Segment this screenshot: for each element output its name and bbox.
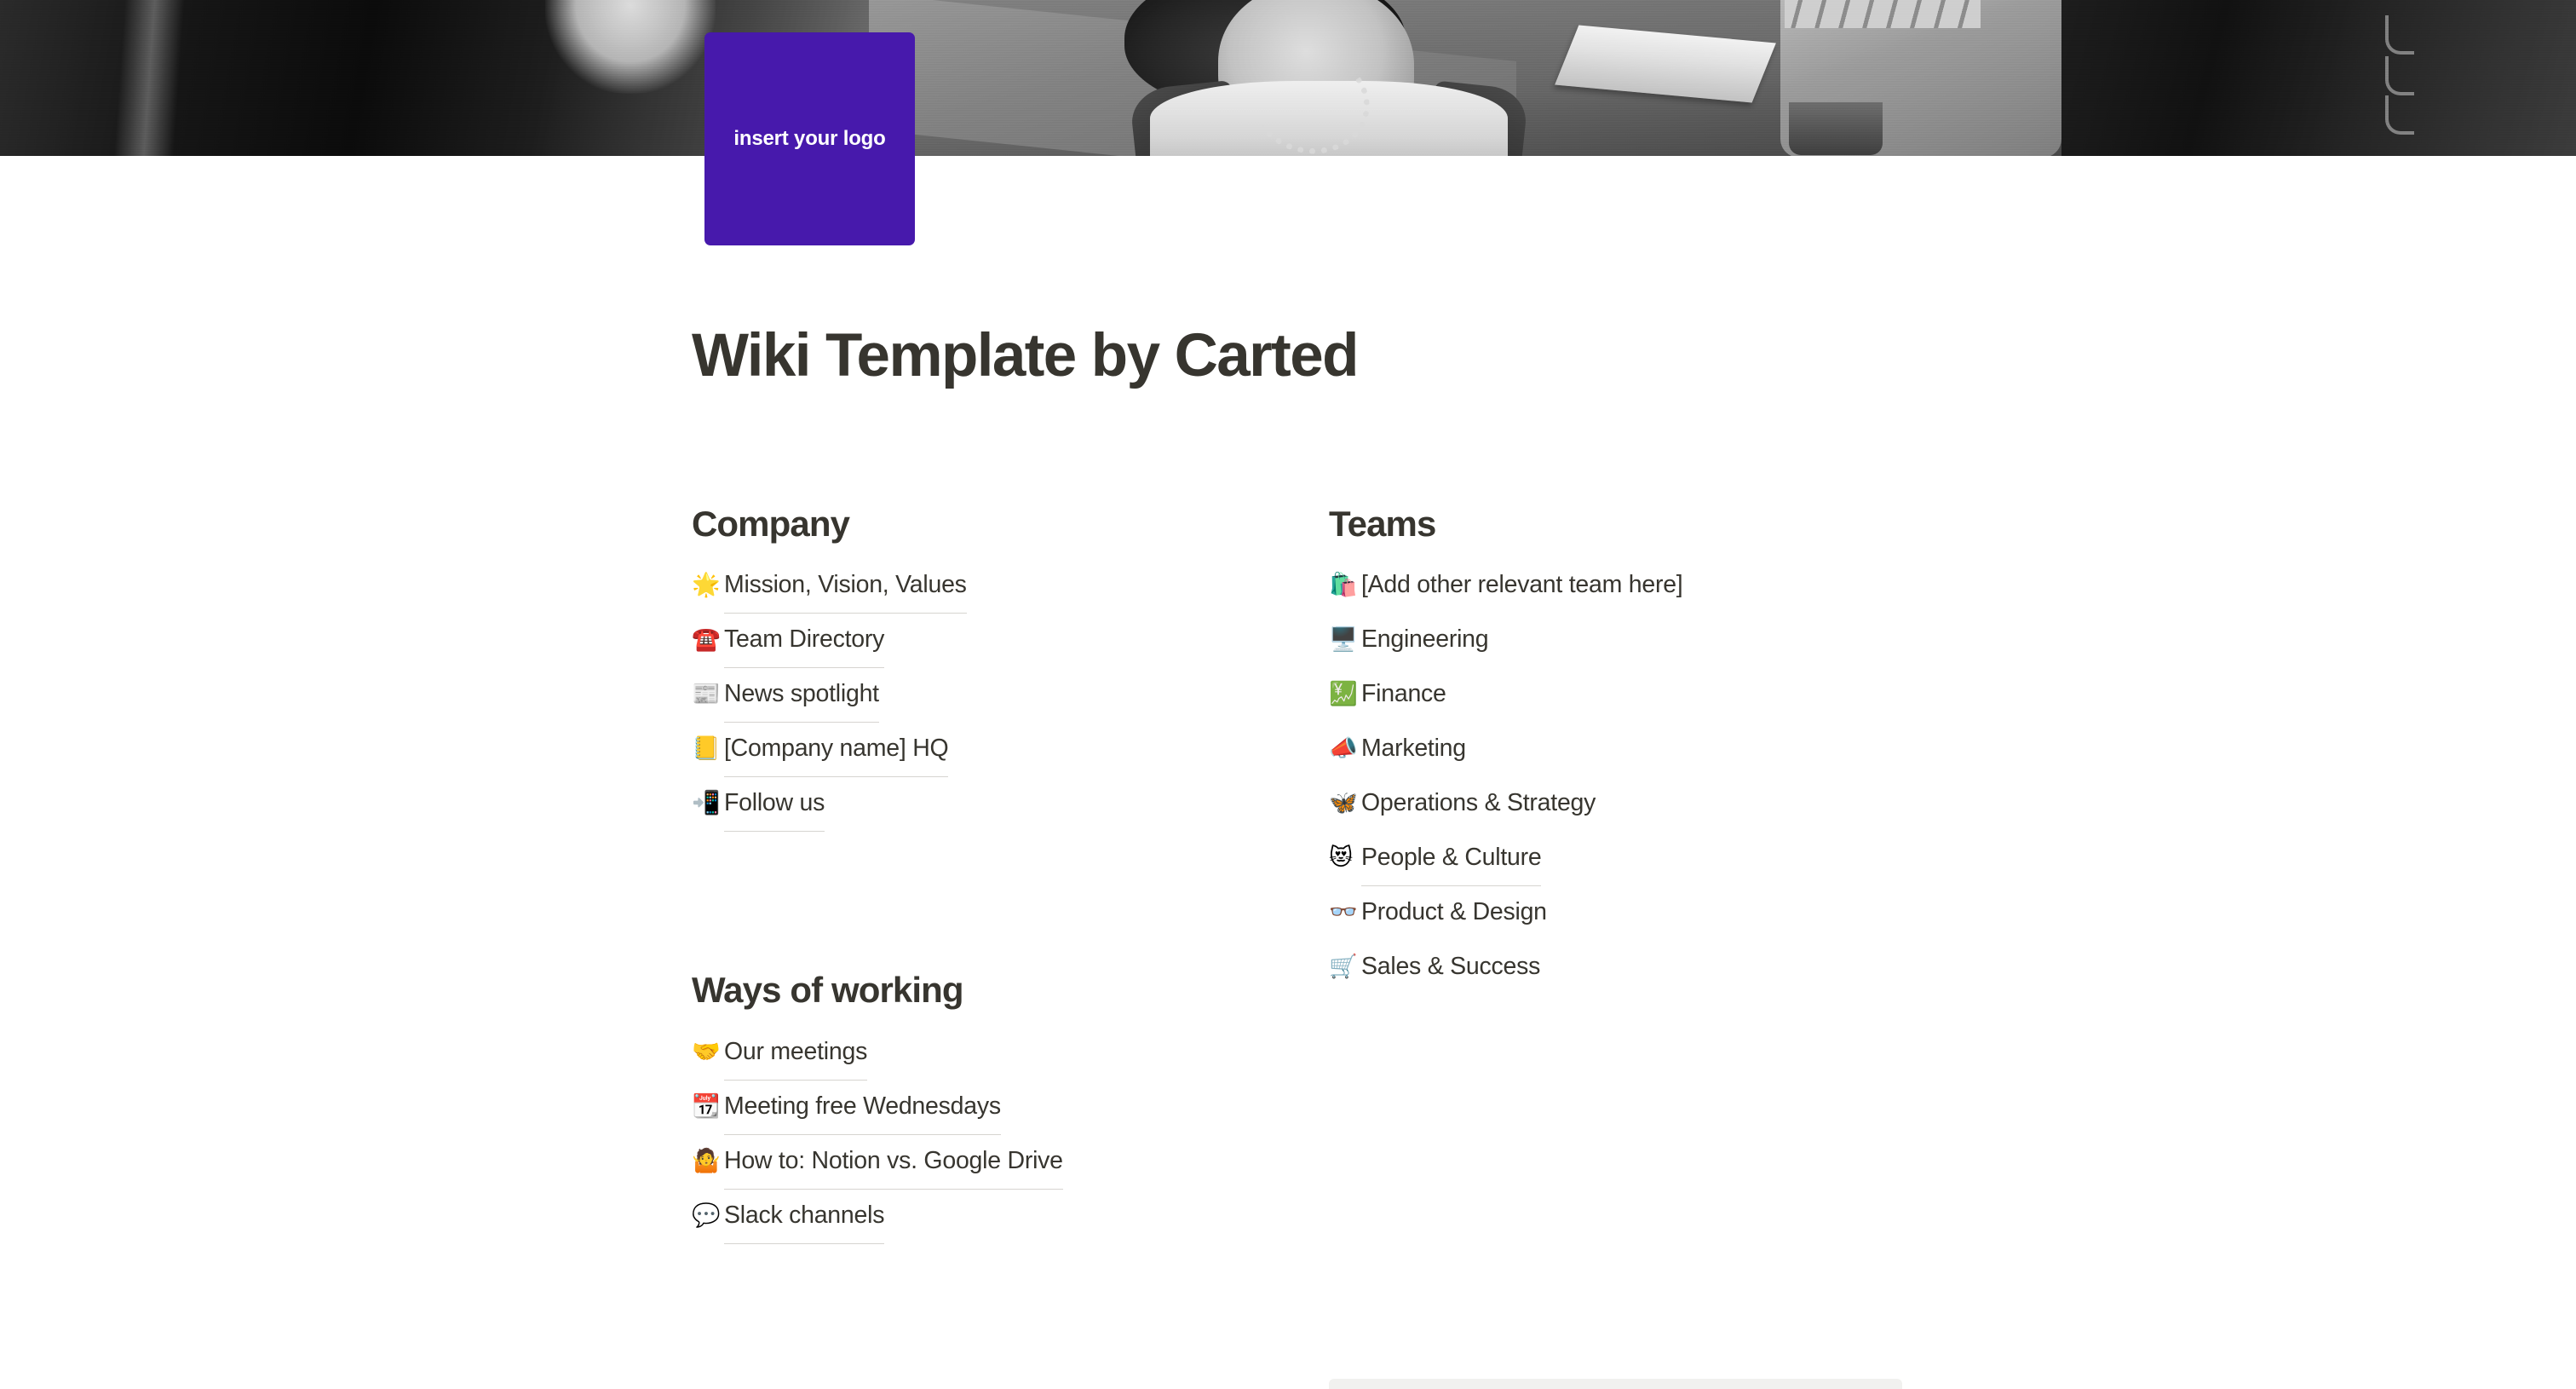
team-marketing[interactable]: Marketing	[1361, 721, 1466, 775]
teams-link-list: 🛍️ [Add other relevant team here] 🖥️ Eng…	[1329, 557, 1901, 994]
ledger-icon: 📒	[692, 722, 724, 776]
newspaper-icon: 📰	[692, 667, 724, 722]
list-item[interactable]: 🖥️ Engineering	[1329, 612, 1901, 666]
wiki-page: insert your logo Wiki Template by Carted…	[0, 0, 2576, 1389]
link-slack-channels[interactable]: Slack channels	[724, 1188, 884, 1244]
list-item[interactable]: 💬 Slack channels	[692, 1188, 1254, 1242]
team-finance[interactable]: Finance	[1361, 666, 1446, 721]
telephone-icon: ☎️	[692, 613, 724, 667]
list-item[interactable]: 🌟 Mission, Vision, Values	[692, 557, 1254, 612]
list-item[interactable]: 💹 Finance	[1329, 666, 1901, 721]
section-heading-company: Company	[692, 503, 1254, 545]
desktop-computer-icon: 🖥️	[1329, 613, 1361, 667]
shopping-cart-icon: 🛒	[1329, 940, 1361, 994]
link-company-name-hq[interactable]: [Company name] HQ	[724, 721, 948, 777]
ways-of-working-link-list: 🤝 Our meetings 📆 Meeting free Wednesdays…	[692, 1024, 1254, 1242]
list-item[interactable]: 🛍️ [Add other relevant team here]	[1329, 557, 1901, 612]
company-link-list: 🌟 Mission, Vision, Values ☎️ Team Direct…	[692, 557, 1254, 830]
smiling-cat-with-heart-eyes-icon: 😻	[1329, 831, 1361, 885]
cover-photo-illustration	[0, 0, 2576, 156]
section-heading-ways-of-working: Ways of working	[692, 969, 1254, 1011]
right-column: Teams 🛍️ [Add other relevant team here] …	[1329, 503, 1901, 994]
tear-off-calendar-icon: 📆	[692, 1080, 724, 1134]
list-item[interactable]: 📲 Follow us	[692, 775, 1254, 830]
link-news-spotlight[interactable]: News spotlight	[724, 666, 879, 723]
list-item[interactable]: 📒 [Company name] HQ	[692, 721, 1254, 775]
chart-increasing-with-yen-icon: 💹	[1329, 667, 1361, 722]
page-logo[interactable]: insert your logo	[704, 32, 915, 245]
list-item[interactable]: 🤷 How to: Notion vs. Google Drive	[692, 1133, 1254, 1188]
section-heading-teams: Teams	[1329, 503, 1901, 545]
glowing-star-icon: 🌟	[692, 558, 724, 613]
list-item[interactable]: 😻 People & Culture	[1329, 830, 1901, 885]
cover-image[interactable]	[0, 0, 2576, 156]
butterfly-icon: 🦋	[1329, 776, 1361, 831]
team-sales-and-success[interactable]: Sales & Success	[1361, 939, 1540, 994]
left-column: Company 🌟 Mission, Vision, Values ☎️ Tea…	[692, 503, 1254, 1242]
page-logo-label: insert your logo	[733, 127, 885, 151]
callout-block[interactable]: 💡 The above team sections should link ou…	[1329, 1379, 1902, 1389]
link-meeting-free-wednesdays[interactable]: Meeting free Wednesdays	[724, 1079, 1001, 1135]
page-title: Wiki Template by Carted	[692, 325, 1358, 389]
team-engineering[interactable]: Engineering	[1361, 612, 1488, 666]
handshake-icon: 🤝	[692, 1025, 724, 1080]
list-item[interactable]: 🛒 Sales & Success	[1329, 939, 1901, 994]
link-mission-vision-values[interactable]: Mission, Vision, Values	[724, 557, 967, 614]
glasses-icon: 👓	[1329, 885, 1361, 940]
section-ways-of-working: Ways of working 🤝 Our meetings 📆 Meeting…	[692, 969, 1254, 1242]
shopping-bags-icon: 🛍️	[1329, 558, 1361, 613]
team-product-and-design[interactable]: Product & Design	[1361, 885, 1547, 939]
person-shrugging-icon: 🤷	[692, 1134, 724, 1189]
link-team-directory[interactable]: Team Directory	[724, 612, 884, 668]
list-item[interactable]: ☎️ Team Directory	[692, 612, 1254, 666]
list-item[interactable]: 📆 Meeting free Wednesdays	[692, 1079, 1254, 1133]
speech-balloon-icon: 💬	[692, 1189, 724, 1243]
link-our-meetings[interactable]: Our meetings	[724, 1024, 867, 1081]
megaphone-icon: 📣	[1329, 722, 1361, 776]
team-operations-and-strategy[interactable]: Operations & Strategy	[1361, 775, 1596, 830]
link-follow-us[interactable]: Follow us	[724, 775, 825, 832]
list-item[interactable]: 📣 Marketing	[1329, 721, 1901, 775]
link-how-to-notion-vs-google-drive[interactable]: How to: Notion vs. Google Drive	[724, 1133, 1063, 1190]
team-add-other-relevant-team[interactable]: [Add other relevant team here]	[1361, 557, 1682, 612]
team-people-and-culture[interactable]: People & Culture	[1361, 830, 1541, 886]
list-item[interactable]: 🦋 Operations & Strategy	[1329, 775, 1901, 830]
mobile-phone-with-arrow-icon: 📲	[692, 776, 724, 831]
section-company: Company 🌟 Mission, Vision, Values ☎️ Tea…	[692, 503, 1254, 830]
list-item[interactable]: 🤝 Our meetings	[692, 1024, 1254, 1079]
list-item[interactable]: 👓 Product & Design	[1329, 885, 1901, 939]
list-item[interactable]: 📰 News spotlight	[692, 666, 1254, 721]
section-teams: Teams 🛍️ [Add other relevant team here] …	[1329, 503, 1901, 994]
